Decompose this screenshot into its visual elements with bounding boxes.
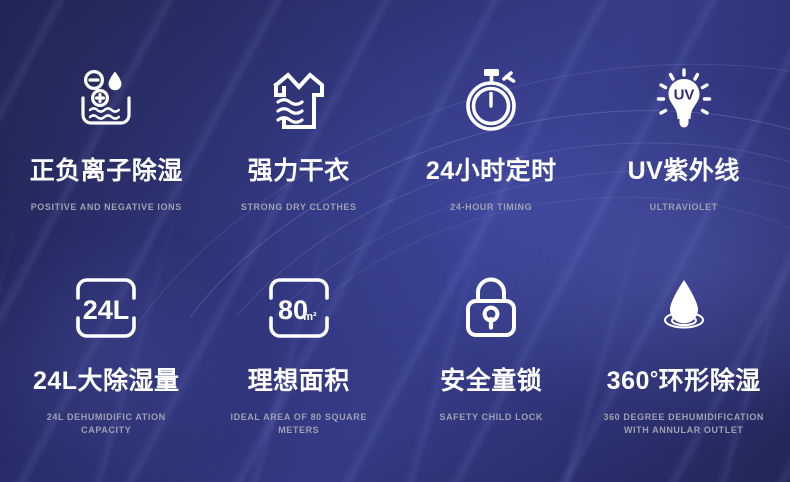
feature-subtitle: 24-HOUR TIMING: [450, 201, 532, 214]
feature-title: 360°环形除湿: [607, 368, 761, 396]
feature-item-strong-dry-clothes: 强力干衣 STRONG DRY CLOTHES: [203, 48, 396, 260]
padlock-child-lock-icon: [460, 260, 522, 340]
title-suffix: 环形除湿: [659, 367, 761, 395]
feature-title: UV紫外线: [628, 158, 740, 186]
ion-dehumidify-icon: [73, 48, 139, 134]
feature-subtitle: POSITIVE AND NEGATIVE IONS: [31, 201, 182, 214]
area-icon-unit: m²: [303, 311, 317, 323]
capacity-24l-icon: 24L: [67, 260, 145, 340]
feature-title: 安全童锁: [440, 368, 542, 396]
feature-subtitle: IDEAL AREA OF 80 SQUARE METERS: [216, 411, 381, 437]
feature-item-child-lock: 安全童锁 SAFETY CHILD LOCK: [395, 260, 588, 472]
feature-item-timer: 24小时定时 24-HOUR TIMING: [395, 48, 588, 260]
feature-title: 强力干衣: [248, 158, 350, 186]
feature-item-capacity: 24L 24L大除湿量 24L DEHUMIDIFIC ATION CAPACI…: [10, 260, 203, 472]
water-drop-ripple-icon: [648, 260, 720, 340]
feature-title: 理想面积: [248, 368, 350, 396]
stopwatch-timer-icon: [460, 48, 522, 134]
feature-item-uv: UV UV紫外线 ULTRAVIOLET: [588, 48, 781, 260]
feature-item-ion-dehumidify: 正负离子除湿 POSITIVE AND NEGATIVE IONS: [10, 48, 203, 260]
uv-bulb-icon: UV: [650, 48, 718, 134]
feature-subtitle: SAFETY CHILD LOCK: [439, 411, 543, 424]
feature-title: 24L大除湿量: [33, 368, 180, 396]
capacity-icon-label: 24L: [83, 295, 130, 325]
title-prefix: 360: [607, 367, 650, 395]
svg-text:UV: UV: [673, 87, 694, 104]
feature-subtitle: 360 DEGREE DEHUMIDIFICATION WITH ANNULAR…: [601, 411, 766, 437]
feature-item-360-dehumidify: 360°环形除湿 360 DEGREE DEHUMIDIFICATION WIT…: [588, 260, 781, 472]
feature-banner: 正负离子除湿 POSITIVE AND NEGATIVE IONS 强力干衣 S…: [0, 0, 790, 482]
area-80sqm-icon: 80 m²: [260, 260, 338, 340]
degree-symbol: °: [650, 368, 659, 391]
feature-item-area: 80 m² 理想面积 IDEAL AREA OF 80 SQUARE METER…: [203, 260, 396, 472]
strong-dry-clothes-icon: [268, 48, 330, 134]
feature-subtitle: ULTRAVIOLET: [650, 201, 718, 214]
feature-title: 24小时定时: [426, 158, 557, 186]
feature-grid: 正负离子除湿 POSITIVE AND NEGATIVE IONS 强力干衣 S…: [0, 0, 790, 482]
feature-subtitle: STRONG DRY CLOTHES: [241, 201, 357, 214]
feature-subtitle: 24L DEHUMIDIFIC ATION CAPACITY: [24, 411, 189, 437]
feature-title: 正负离子除湿: [30, 158, 183, 186]
